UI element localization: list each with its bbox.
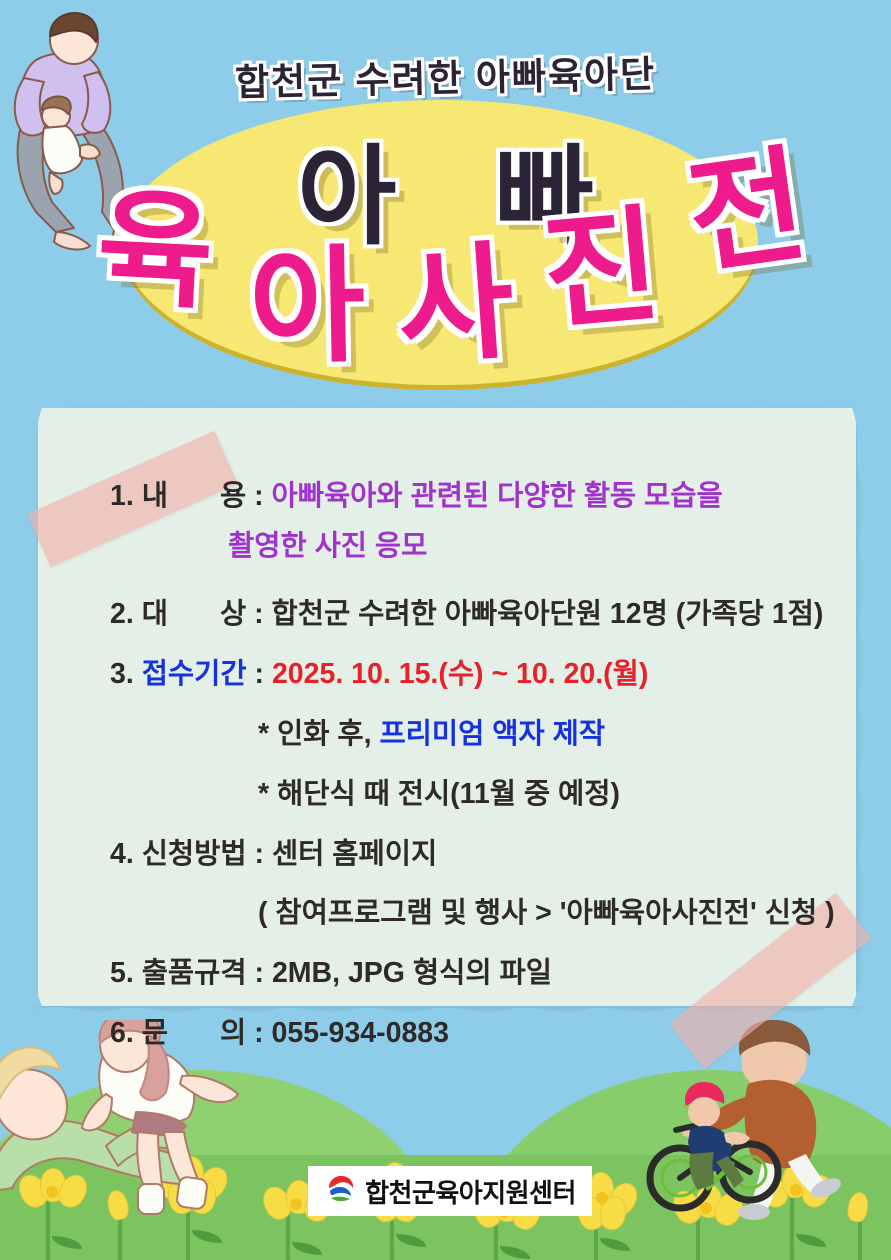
details-list: 1. 내용 : 아빠육아와 관련된 다양한 활동 모습을 촬영한 사진 응모 2… <box>110 482 830 1049</box>
item4-number: 4. <box>110 838 134 870</box>
item2-number: 2. <box>110 598 134 630</box>
detail-item-4: 4. 신청방법 : 센터 홈페이지 <box>110 840 830 870</box>
title-char-a: 아 <box>231 204 382 389</box>
paper-top-edge <box>38 394 856 416</box>
info-paper: 1. 내용 : 아빠육아와 관련된 다양한 활동 모습을 촬영한 사진 응모 2… <box>38 408 856 1006</box>
item2-colon: : <box>254 598 264 630</box>
organization-name: 합천군육아지원센터 <box>365 1173 576 1210</box>
title-char-jeon: 전 <box>660 101 832 302</box>
hapcheon-emblem-icon <box>324 1172 358 1211</box>
item4-colon: : <box>255 838 265 870</box>
footer-logo-bar: 합천군육아지원센터 <box>308 1166 592 1216</box>
item6-value: 055-934-0883 <box>272 1017 450 1049</box>
title-char-jin: 진 <box>519 162 682 356</box>
item6-label-a: 문 <box>142 1017 168 1049</box>
paper-left-edge <box>26 408 42 1006</box>
item5-label: 출품규격 <box>142 957 247 989</box>
item2-label-b: 상 <box>220 598 246 630</box>
item6-colon: : <box>254 1017 264 1049</box>
detail-item-1: 1. 내용 : 아빠육아와 관련된 다양한 활동 모습을 <box>110 482 830 512</box>
item1-colon: : <box>254 480 264 512</box>
item5-colon: : <box>255 957 265 989</box>
item3-label: 접수기간 <box>142 658 247 690</box>
item3-sub2: * 해단식 때 전시(11월 중 예정) <box>258 778 620 810</box>
item5-value: 2MB, JPG 형식의 파일 <box>272 957 552 989</box>
item2-label-a: 대 <box>142 598 168 630</box>
detail-item-5: 5. 출품규격 : 2MB, JPG 형식의 파일 <box>110 959 830 989</box>
detail-item-3-sub1: * 인화 후, 프리미엄 액자 제작 <box>110 720 830 750</box>
detail-item-3: 3. 접수기간 : 2025. 10. 15.(수) ~ 10. 20.(월) <box>110 660 830 690</box>
item5-number: 5. <box>110 957 134 989</box>
item6-label-b: 의 <box>220 1017 246 1049</box>
detail-item-4-sub: ( 참여프로그램 및 행사 > '아빠육아사진전' 신청 ) <box>110 899 830 929</box>
item1-value-line2: 촬영한 사진 응모 <box>228 530 427 562</box>
item2-value: 합천군 수려한 아빠육아단원 12명 (가족당 1점) <box>272 598 824 630</box>
item4-value: 센터 홈페이지 <box>272 838 437 870</box>
item3-sub1-accent: 프리미엄 액자 제작 <box>379 718 605 750</box>
title-char-yuk: 육 <box>77 145 234 334</box>
detail-item-1-cont: 촬영한 사진 응모 <box>110 532 830 562</box>
item3-number: 3. <box>110 658 134 690</box>
detail-item-3-sub2: * 해단식 때 전시(11월 중 예정) <box>110 780 830 810</box>
item1-value-line1: 아빠육아와 관련된 다양한 활동 모습을 <box>272 480 723 512</box>
poster-title-line2: 육아사진전 <box>0 159 891 387</box>
item3-colon: : <box>255 658 265 690</box>
item6-number: 6. <box>110 1017 134 1049</box>
detail-item-6: 6. 문의 : 055-934-0883 <box>110 1019 830 1049</box>
detail-item-2: 2. 대상 : 합천군 수려한 아빠육아단원 12명 (가족당 1점) <box>110 600 830 630</box>
item4-label: 신청방법 <box>142 838 247 870</box>
item1-number: 1. <box>110 480 134 512</box>
item1-label-b: 용 <box>220 480 246 512</box>
item4-sub: ( 참여프로그램 및 행사 > '아빠육아사진전' 신청 ) <box>258 897 835 929</box>
item1-label-a: 내 <box>142 480 168 512</box>
title-char-sa: 사 <box>375 199 535 391</box>
item3-sub1-plain: * 인화 후, <box>258 718 372 750</box>
item3-value: 2025. 10. 15.(수) ~ 10. 20.(월) <box>272 658 648 690</box>
poster-canvas: 합천군 수려한 아빠육아단 아 빠 육아사진전 <box>0 0 891 1260</box>
